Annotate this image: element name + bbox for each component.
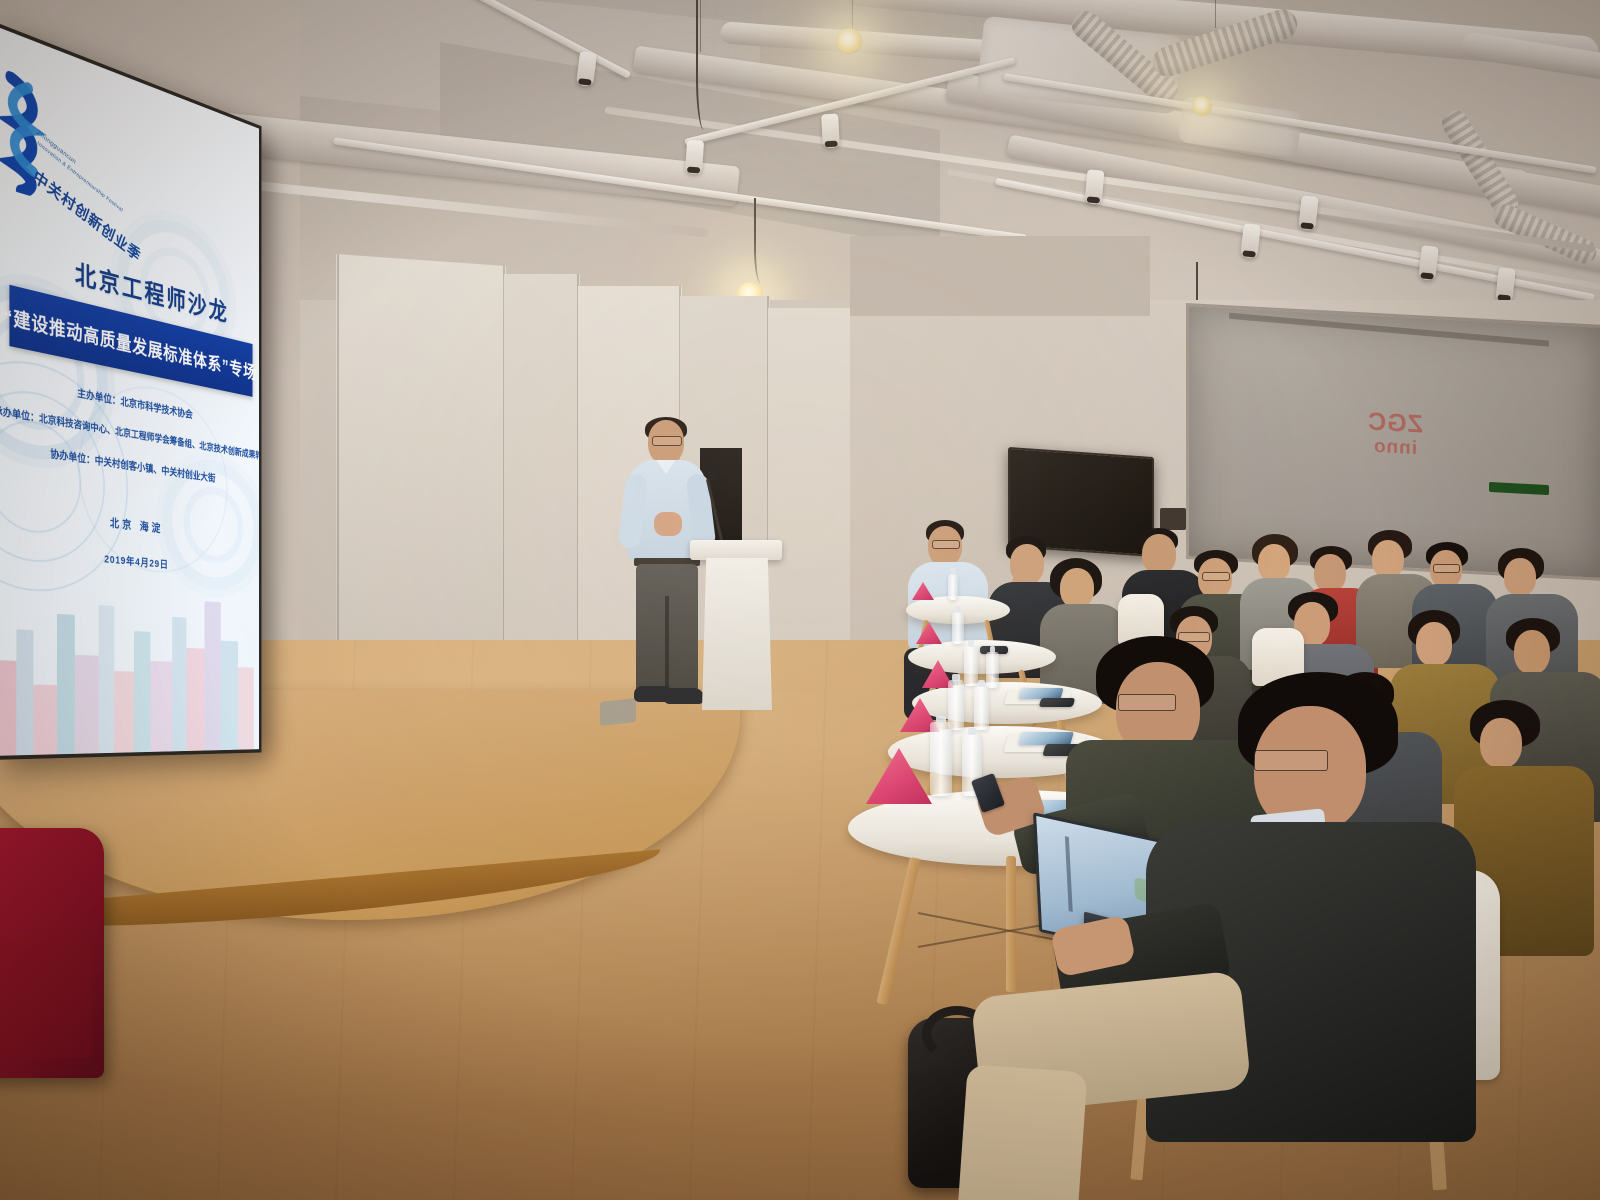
skyline-building	[204, 601, 220, 750]
skyline-building	[186, 648, 204, 751]
track-spotlight-3	[821, 114, 840, 149]
table-leg	[1006, 856, 1016, 992]
audience-glasses-icon	[932, 540, 960, 549]
pendant-bulb-3	[1192, 96, 1212, 116]
audience-head	[1514, 630, 1550, 674]
drinking-glass	[986, 652, 999, 688]
wall-bracket-hardware	[1160, 508, 1186, 530]
speaker-shoe-right	[664, 688, 704, 704]
audience-glasses-icon	[1433, 564, 1460, 573]
ceiling-power-cable-1	[696, 0, 716, 130]
folding-partition-panel-1	[336, 254, 506, 706]
water-bottle	[930, 722, 952, 796]
right-wall-upper	[850, 236, 1150, 316]
audience-head	[1142, 534, 1176, 574]
skyline-building	[114, 671, 134, 753]
partition-seam	[337, 254, 339, 694]
skyline-building	[75, 655, 99, 754]
skyline-building	[150, 661, 172, 752]
smartphone-on-table[interactable]	[1039, 698, 1076, 707]
red-armchair-arm	[0, 938, 92, 1058]
water-bottle	[964, 646, 978, 686]
audience-khaki-trousers-shin	[952, 1064, 1087, 1200]
audience-head	[1258, 544, 1290, 582]
audience-head	[1372, 540, 1404, 578]
podium-top-surface	[690, 540, 782, 560]
skyline-building	[33, 685, 56, 755]
screen-bezel: Zhongguancun Innovation & Entrepreneursh…	[0, 20, 261, 760]
track-spotlight-4	[1085, 169, 1105, 204]
conference-photo-scene: ZGC inno	[0, 0, 1600, 1200]
skyline-building	[134, 631, 150, 752]
water-bottle	[952, 612, 964, 644]
water-bottle	[948, 574, 958, 600]
track-spotlight-2	[685, 139, 704, 174]
audience-glasses-icon	[1202, 572, 1230, 581]
laptop-screen-content-line	[1065, 836, 1073, 912]
speaker-hands	[654, 512, 682, 536]
skyline-building	[57, 614, 75, 754]
audience-head	[1416, 622, 1452, 666]
audience-head	[1480, 718, 1522, 768]
green-indicator-lights	[1489, 482, 1549, 495]
ceiling-power-cable-2	[754, 198, 772, 284]
audience-head	[1060, 568, 1094, 608]
skyline-building	[172, 617, 186, 752]
pendant-bulb-1	[836, 28, 862, 54]
speaker-glasses-icon	[652, 436, 682, 446]
podium-body	[702, 558, 772, 710]
drinking-glass	[974, 686, 989, 730]
audience-head	[1314, 554, 1346, 592]
slide-skyline-graphic	[0, 546, 259, 756]
audience-glasses-icon	[1118, 694, 1176, 711]
skyline-building	[0, 660, 16, 756]
ceiling-hanger-2	[852, 0, 853, 30]
ceiling-hanger-3	[1215, 0, 1216, 28]
skyline-building	[238, 667, 254, 750]
skyline-building	[99, 605, 115, 753]
audience-glasses-icon	[1254, 750, 1328, 771]
skyline-building	[16, 629, 33, 755]
presentation-slide: Zhongguancun Innovation & Entrepreneursh…	[0, 25, 259, 756]
speaker-leg-seam	[665, 596, 669, 692]
audience-head	[1504, 558, 1536, 596]
led-presentation-screen: Zhongguancun Innovation & Entrepreneursh…	[0, 20, 261, 760]
skyline-building	[221, 641, 238, 751]
